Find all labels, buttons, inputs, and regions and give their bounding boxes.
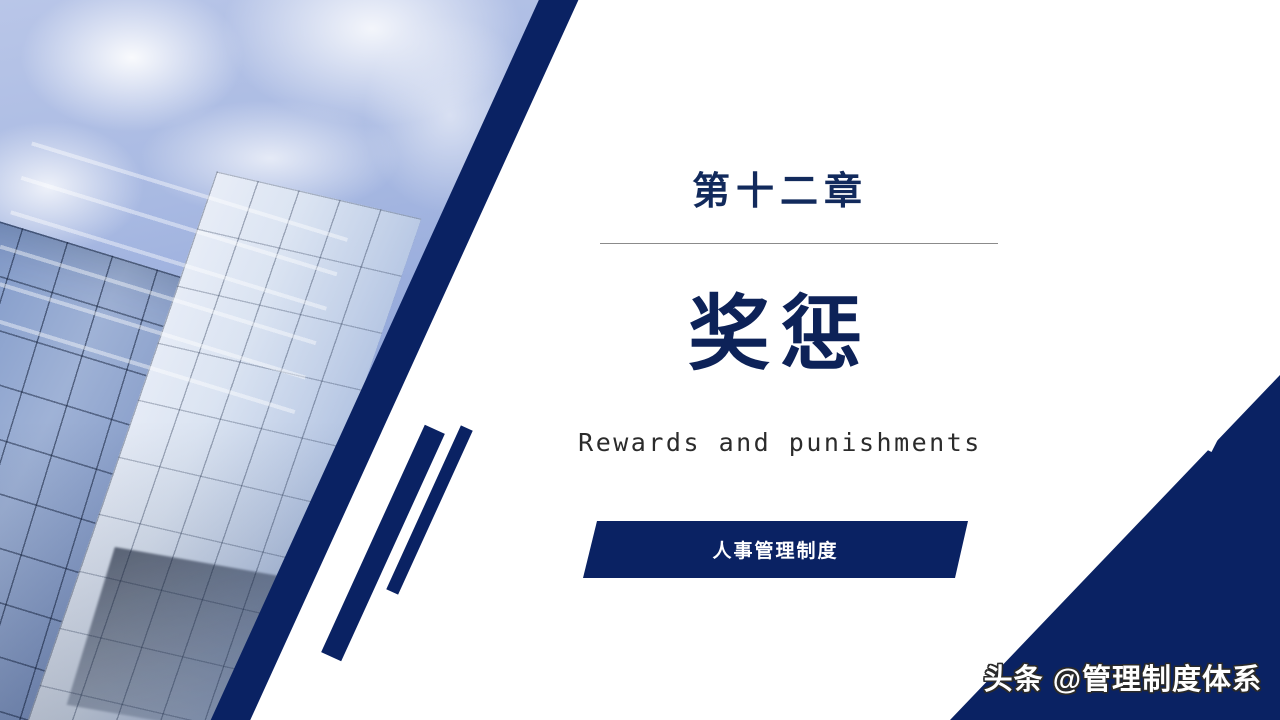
page-title: 奖惩: [560, 292, 1000, 378]
chapter-label: 第十二章: [560, 172, 1000, 214]
subject-banner-label: 人事管理制度: [712, 536, 838, 563]
subject-banner: 人事管理制度: [583, 521, 968, 578]
title-text-block: 第十二章 奖惩 Rewards and punishments 人事管理制度: [560, 0, 1040, 720]
presentation-slide: 第十二章 奖惩 Rewards and punishments 人事管理制度 头…: [0, 0, 1280, 720]
subtitle-english: Rewards and punishments: [560, 428, 1000, 457]
title-divider-rule: [600, 243, 998, 244]
watermark: 头条 @管理制度体系: [984, 656, 1262, 698]
